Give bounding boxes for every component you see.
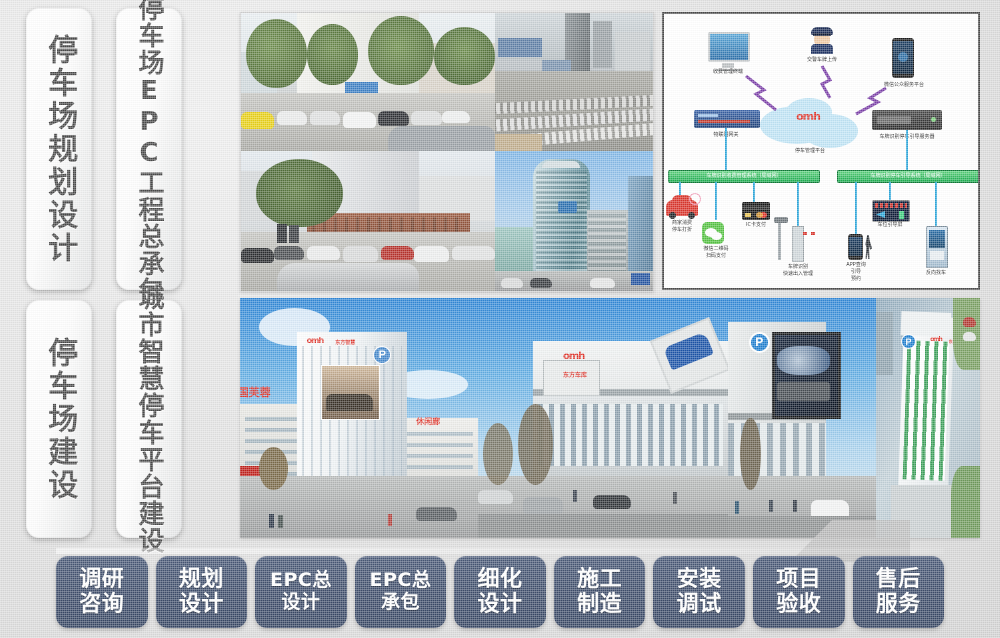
render-aerial-green-parking-tower: P omh 东方智慧: [876, 298, 980, 538]
car-shape: [963, 332, 975, 342]
process-step-project-acceptance[interactable]: 项目 验收: [753, 556, 845, 628]
led-video-cars: [777, 382, 830, 401]
endpoint-label-ic-card-pay: IC卡支付: [746, 222, 766, 229]
lpr-camera-head: [774, 217, 788, 223]
ic-card-icon: [742, 202, 770, 220]
wechat-icon: [702, 222, 724, 244]
omh-logo: omh: [563, 351, 584, 362]
pedestrian-figure: [793, 500, 797, 512]
pedestrian-figure: [673, 492, 677, 504]
sidebar-card-parking-epc-contracting[interactable]: 停车场EPC工程总承包: [116, 8, 182, 290]
step-line-1: EPC总: [270, 570, 332, 592]
pedestrian-figure: [278, 515, 283, 528]
endpoint-label-space-guide-screen: 车位引导屏: [877, 222, 902, 229]
poster-canvas: 停车场规划设计 停车场EPC工程总承包 停车场建设 城市智慧停车平台建设: [0, 0, 1000, 638]
billboard-car: [326, 394, 374, 411]
sidebar-card-parking-construction[interactable]: 停车场建设: [26, 300, 92, 538]
car-shape: [478, 490, 513, 504]
endpoint-label-reverse-find-car: 反向找车: [926, 270, 946, 277]
photo-surface-parking-lot: [241, 13, 495, 151]
render-mechanical-parking-tower: omh 东方智慧 P 国芙蓉 休闲廊: [240, 298, 478, 538]
omh-logo: omh: [930, 336, 942, 343]
led-video-content: [777, 346, 830, 375]
step-line-1: 项目: [776, 567, 821, 592]
sidebar-card-label: 停车场建设: [43, 337, 75, 502]
render-garage-front-elevation: omh 东方车库: [478, 298, 728, 538]
project-photo-grid: [240, 12, 654, 292]
step-line-1: 施工: [577, 567, 622, 592]
photo-glass-office-tower: [495, 151, 653, 291]
step-line-1: 规划: [179, 567, 224, 592]
step-line-2: 制造: [577, 592, 622, 617]
lpr-camera-pole: [778, 220, 781, 260]
step-line-1: 售后: [876, 567, 921, 592]
photo-aerial-parking-view: [495, 13, 653, 151]
sidebar-card-label: 城市智慧停车平台建设: [135, 284, 163, 554]
process-step-installation-commissioning[interactable]: 安装 调试: [653, 556, 745, 628]
step-line-2: 设计: [478, 592, 523, 617]
shop-sign-left: 国芙蓉: [240, 384, 271, 400]
endpoint-label-app-query: APP查询引导预约: [846, 262, 865, 282]
pedestrian-figure: [269, 514, 274, 528]
car-shape: [963, 317, 975, 327]
render-image-strip: omh 东方智慧 P 国芙蓉 休闲廊 omh 东方车库: [240, 298, 980, 538]
brand-cn-text: 东方车库: [563, 370, 587, 379]
step-line-2: 承包: [381, 592, 420, 614]
car-shape: [416, 507, 456, 521]
step-line-2: 设计: [281, 592, 320, 614]
process-step-detailed-design[interactable]: 细化 设计: [454, 556, 546, 628]
step-line-1: 安装: [677, 567, 722, 592]
parking-p-badge: P: [749, 332, 770, 353]
merchant-car-icon: [666, 200, 698, 216]
step-line-1: 调研: [79, 567, 124, 592]
sidebar-card-parking-planning-design[interactable]: 停车场规划设计: [26, 8, 92, 290]
pedestrian-figure: [388, 514, 392, 526]
process-step-epc-design[interactable]: EPC总 设计: [255, 556, 347, 628]
car-shape: [593, 495, 631, 509]
sidebar-card-label: 停车场EPC工程总承包: [135, 0, 163, 304]
gate-arm: [803, 232, 819, 235]
endpoint-label-lpr-fast-access: 车牌识别快速出入管理: [783, 264, 813, 278]
render-led-video-wall-facade: P: [728, 298, 876, 538]
step-line-2: 验收: [776, 592, 821, 617]
omh-logo: omh: [307, 336, 324, 345]
pedestrian-figure: [573, 490, 577, 502]
pedestrian-figure: [769, 500, 773, 512]
step-line-2: 调试: [677, 592, 722, 617]
endpoint-label-wechat-qr-pay: 微信二维码扫码支付: [703, 246, 728, 260]
tree-shape: [740, 418, 761, 490]
process-step-epc-contracting[interactable]: EPC总 承包: [355, 556, 447, 628]
process-step-survey-consulting[interactable]: 调研 咨询: [56, 556, 148, 628]
tree-shape: [518, 404, 553, 486]
system-architecture-diagram: omh 停车管理平台 收费管理终端 交警车牌上传 微信公众服务平台 物联网网关: [662, 12, 980, 290]
process-step-construction-manufacturing[interactable]: 施工 制造: [554, 556, 646, 628]
process-step-planning-design[interactable]: 规划 设计: [156, 556, 248, 628]
step-line-2: 服务: [876, 592, 921, 617]
app-query-phone-icon: [848, 234, 863, 260]
reverse-find-car-kiosk-icon: [926, 226, 948, 268]
tree-shape: [259, 447, 288, 490]
led-video-wall: [772, 332, 840, 420]
pedestrian-figure: [735, 501, 739, 514]
process-step-after-sales-service[interactable]: 售后 服务: [853, 556, 945, 628]
photo-parking-lot-brick-building: [241, 151, 495, 291]
car-shape: [523, 497, 563, 514]
step-line-2: 咨询: [79, 592, 124, 617]
tree-shape: [483, 423, 513, 485]
step-line-2: 设计: [179, 592, 224, 617]
space-guide-screen-icon: [872, 200, 910, 222]
endpoint-label-merchant-discount: 商家消费停车打折: [672, 220, 692, 234]
brand-cn-text: 东方智慧: [335, 339, 355, 346]
billboard-panel: [321, 365, 380, 420]
step-line-1: EPC总: [370, 570, 432, 592]
process-step-bar: 调研 咨询 规划 设计 EPC总 设计 EPC总 承包 细化 设计 施工 制造 …: [56, 552, 944, 632]
step-line-1: 细化: [478, 567, 523, 592]
sidebar-card-smart-parking-platform[interactable]: 城市智慧停车平台建设: [116, 300, 182, 538]
shop-sign-right: 休闲廊: [416, 416, 440, 427]
sidebar-card-label: 停车场规划设计: [43, 34, 75, 265]
parking-p-badge: P: [901, 334, 916, 349]
